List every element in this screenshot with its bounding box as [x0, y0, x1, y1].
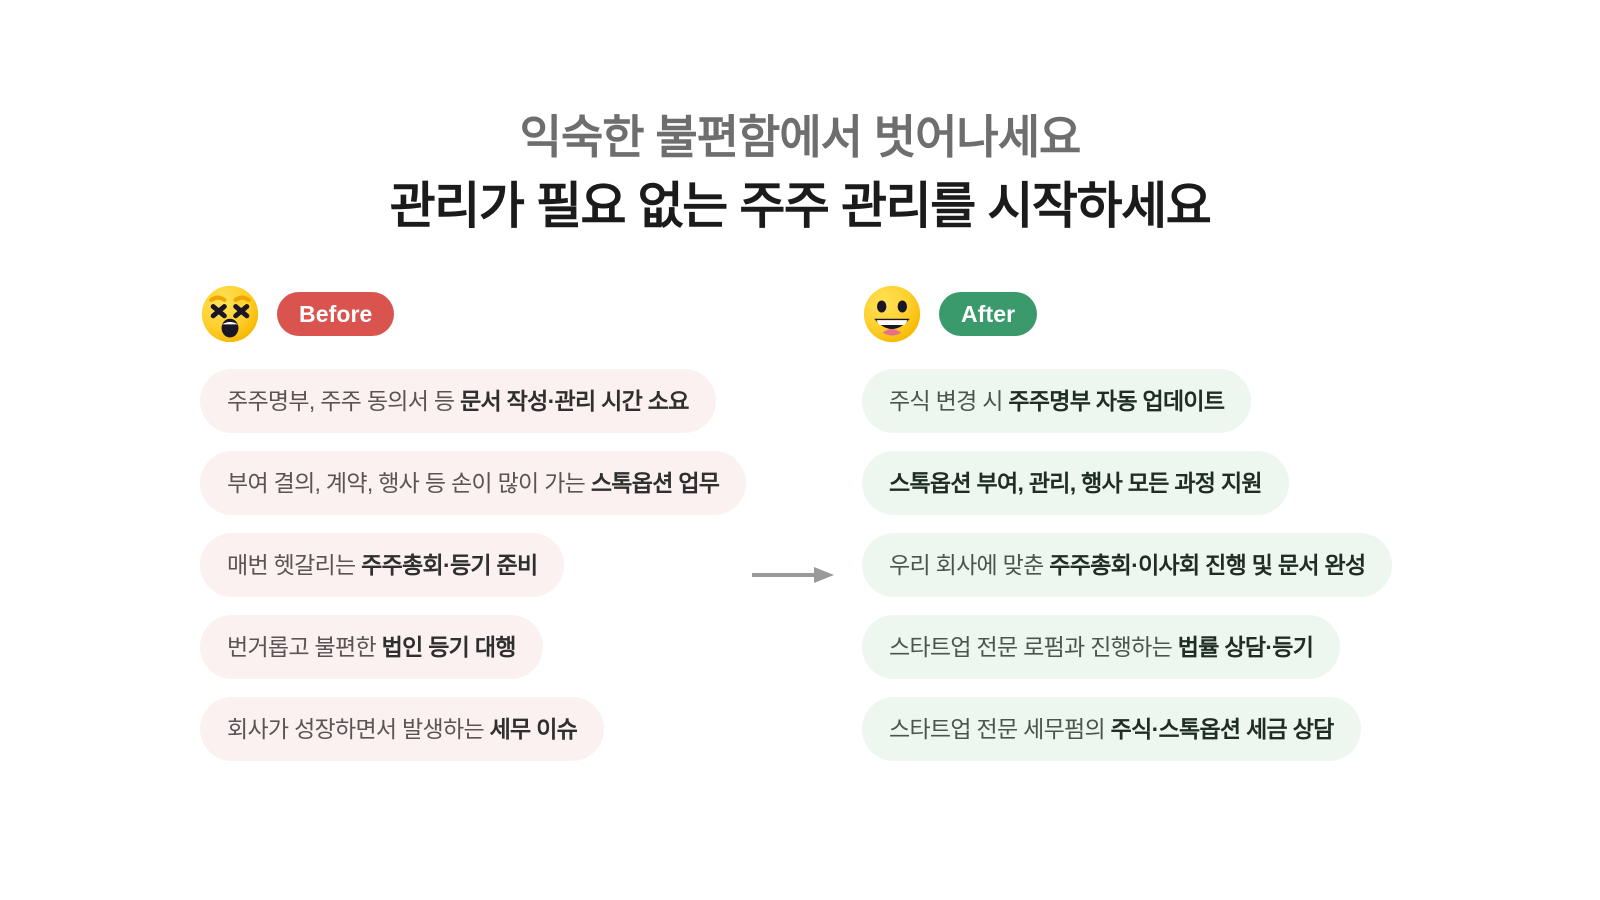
- item-plain-text: 매번 헷갈리는: [227, 552, 361, 578]
- before-column: Before 주주명부, 주주 동의서 등 문서 작성·관리 시간 소요 부여 …: [200, 282, 820, 761]
- item-plain-text: 우리 회사에 맞춘: [889, 552, 1049, 578]
- after-column-header: After: [862, 282, 1482, 346]
- item-plain-text: 주식 변경 시: [889, 388, 1008, 414]
- item-plain-text: 번거롭고 불편한: [227, 634, 382, 660]
- item-bold-text: 주주총회·이사회 진행 및 문서 완성: [1049, 552, 1365, 578]
- list-item: 우리 회사에 맞춘 주주총회·이사회 진행 및 문서 완성: [862, 533, 1392, 597]
- comparison-columns: Before 주주명부, 주주 동의서 등 문서 작성·관리 시간 소요 부여 …: [0, 282, 1600, 802]
- grinning-face-emoji: [862, 284, 922, 344]
- list-item: 번거롭고 불편한 법인 등기 대행: [200, 615, 543, 679]
- item-bold-text: 주주명부 자동 업데이트: [1008, 388, 1224, 414]
- item-plain-text: 회사가 성장하면서 발생하는: [227, 716, 490, 742]
- item-bold-text: 법인 등기 대행: [382, 634, 516, 660]
- list-item: 부여 결의, 계약, 행사 등 손이 많이 가는 스톡옵션 업무: [200, 451, 746, 515]
- list-item: 주식 변경 시 주주명부 자동 업데이트: [862, 369, 1251, 433]
- list-item: 매번 헷갈리는 주주총회·등기 준비: [200, 533, 564, 597]
- landing-comparison-section: 익숙한 불편함에서 벗어나세요 관리가 필요 없는 주주 관리를 시작하세요: [0, 0, 1600, 900]
- list-item: 스타트업 전문 로펌과 진행하는 법률 상담·등기: [862, 615, 1340, 679]
- list-item: 회사가 성장하면서 발생하는 세무 이슈: [200, 697, 604, 761]
- item-plain-text: 스타트업 전문 로펌과 진행하는: [889, 634, 1178, 660]
- item-bold-text: 주주총회·등기 준비: [361, 552, 537, 578]
- heading-block: 익숙한 불편함에서 벗어나세요 관리가 필요 없는 주주 관리를 시작하세요: [0, 108, 1600, 238]
- item-plain-text: 스타트업 전문 세무펌의: [889, 716, 1111, 742]
- item-bold-text: 세무 이슈: [490, 716, 578, 742]
- list-item: 스타트업 전문 세무펌의 주식·스톡옵션 세금 상담: [862, 697, 1361, 761]
- after-items-list: 주식 변경 시 주주명부 자동 업데이트 스톡옵션 부여, 관리, 행사 모든 …: [862, 369, 1482, 761]
- after-column: After 주식 변경 시 주주명부 자동 업데이트 스톡옵션 부여, 관리, …: [862, 282, 1482, 761]
- before-badge: Before: [277, 292, 394, 336]
- right-arrow-icon: [750, 565, 836, 585]
- before-items-list: 주주명부, 주주 동의서 등 문서 작성·관리 시간 소요 부여 결의, 계약,…: [200, 369, 820, 761]
- item-bold-text: 법률 상담·등기: [1178, 634, 1313, 660]
- list-item: 스톡옵션 부여, 관리, 행사 모든 과정 지원: [862, 451, 1289, 515]
- before-column-header: Before: [200, 282, 820, 346]
- item-bold-text: 주식·스톡옵션 세금 상담: [1111, 716, 1334, 742]
- section-subtitle: 익숙한 불편함에서 벗어나세요: [0, 108, 1600, 167]
- item-plain-text: 주주명부, 주주 동의서 등: [227, 388, 460, 414]
- item-bold-text: 스톡옵션 부여, 관리, 행사 모든 과정 지원: [889, 470, 1262, 496]
- item-bold-text: 문서 작성·관리 시간 소요: [460, 388, 689, 414]
- after-badge: After: [939, 292, 1037, 336]
- page-title: 관리가 필요 없는 주주 관리를 시작하세요: [0, 174, 1600, 238]
- list-item: 주주명부, 주주 동의서 등 문서 작성·관리 시간 소요: [200, 369, 716, 433]
- item-plain-text: 부여 결의, 계약, 행사 등 손이 많이 가는: [227, 470, 591, 496]
- dizzy-face-emoji: [200, 284, 260, 344]
- item-bold-text: 스톡옵션 업무: [591, 470, 719, 496]
